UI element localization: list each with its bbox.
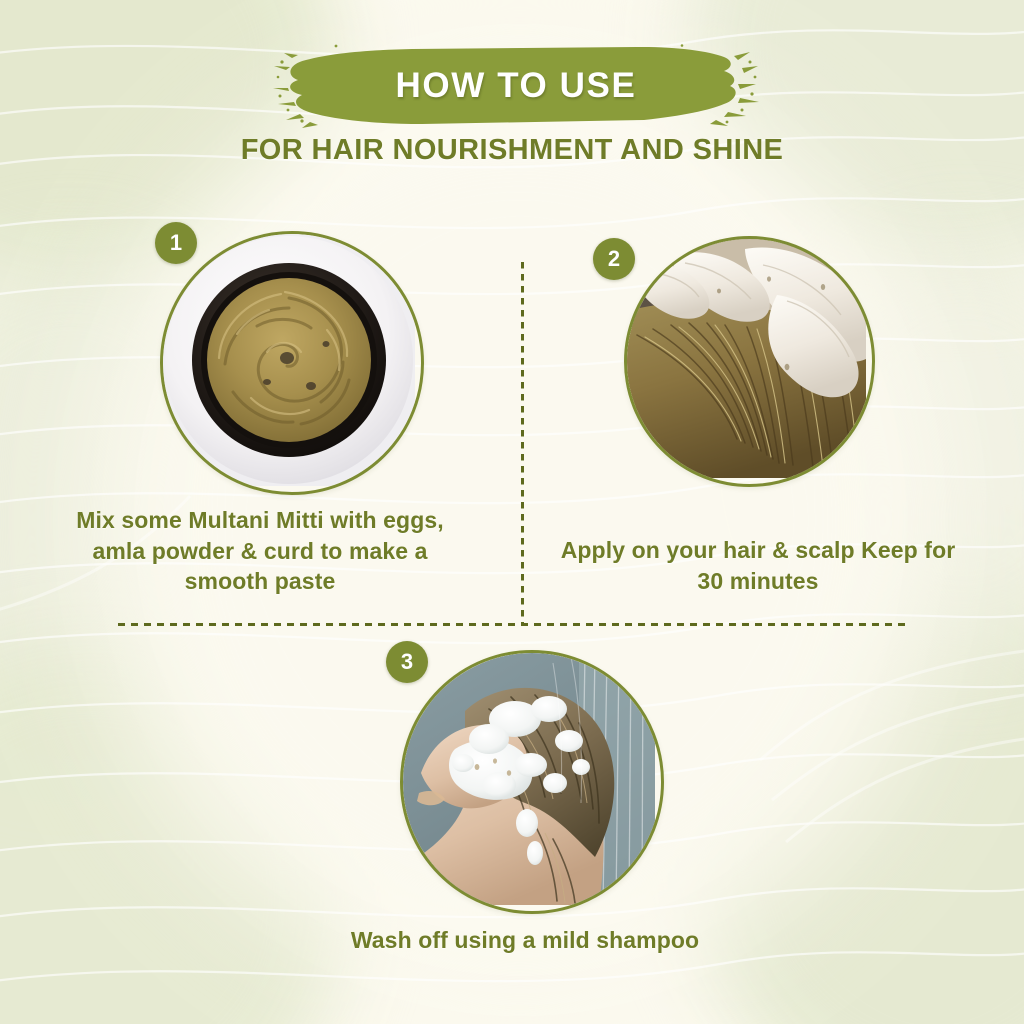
woman-washing-hair-with-shampoo-photo [403, 653, 661, 911]
step-2-caption: Apply on your hair & scalp Keep for 30 m… [548, 535, 968, 596]
step-1-photo [160, 231, 424, 495]
horizontal-dashed-divider [118, 623, 908, 626]
step-3-photo [400, 650, 664, 914]
infographic-canvas: HOW TO USE FOR HAIR NOURISHMENT AND SHIN… [0, 0, 1024, 1024]
step-1-caption: Mix some Multani Mitti with eggs, amla p… [60, 505, 460, 597]
step-3-number-badge: 3 [386, 641, 428, 683]
vertical-dashed-divider [521, 262, 524, 626]
background-wash-bottom-left [0, 640, 350, 1024]
gloved-hands-applying-paste-to-hair-photo [627, 239, 872, 484]
step-1-number-badge: 1 [155, 222, 197, 264]
step-2-photo [624, 236, 875, 487]
page-title: HOW TO USE [272, 44, 760, 128]
step-2-number-badge: 2 [593, 238, 635, 280]
step-3-caption: Wash off using a mild shampoo [330, 925, 720, 956]
background-wash-bottom-right [684, 560, 1024, 1024]
bowl-of-multani-mitti-paste-photo [163, 234, 421, 492]
page-subtitle: FOR HAIR NOURISHMENT AND SHINE [0, 134, 1024, 167]
header-banner: HOW TO USE [272, 44, 760, 128]
